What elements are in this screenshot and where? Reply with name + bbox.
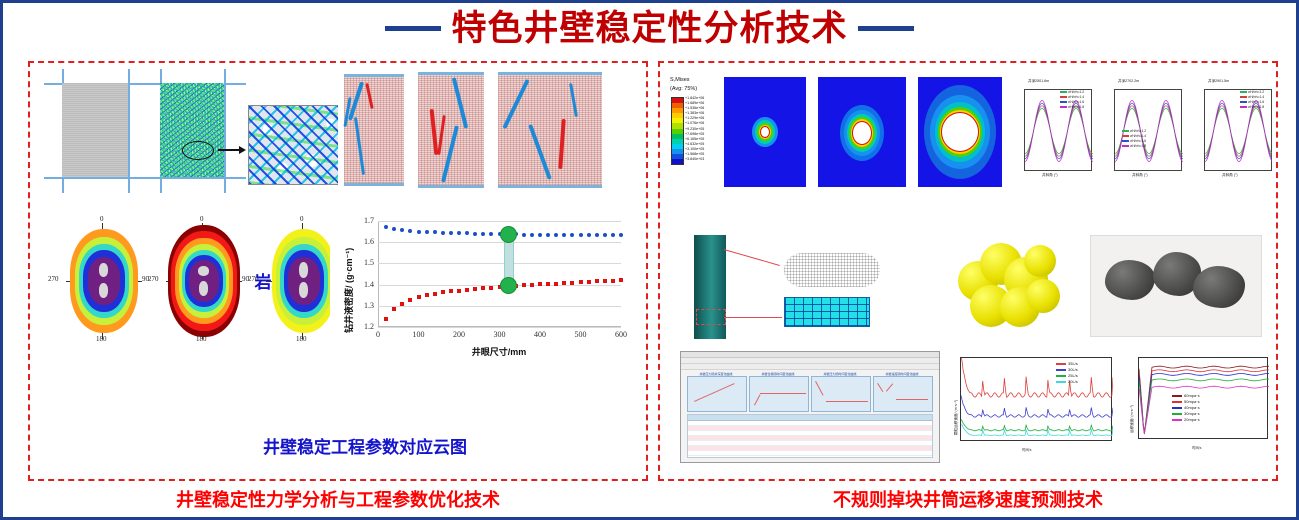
title-rule-left [385,26,441,31]
pipe-callout-line-bottom [724,317,782,318]
collapse-chart-3: 井深2901.5m σH/σh=1.2σH/σh=1.4σH/σh=1.6σH/… [1188,77,1272,187]
fracture-specimens-figure [342,63,642,199]
x-axis-tick: 200 [447,330,471,339]
pipe-detail-box [696,309,726,325]
data-point [417,295,421,299]
data-point [384,317,388,321]
x-axis-tick: 300 [488,330,512,339]
collapse-chart-legend: σH/σh=1.2σH/σh=1.4σH/σh=1.6σH/σh=1.8 [1240,90,1264,110]
cuttings-velocity-chart: 颗粒运移速度/ (m·s⁻¹) 35L/s30L/s25L/s20L/s 时间/… [946,349,1118,459]
highlight-marker-lower [500,277,517,294]
velocity-chart-xlabel: 时间/s [1022,447,1031,452]
left-sub-caption-2: 井壁稳定工程参数对应云图 [55,433,675,458]
data-point [579,280,583,284]
software-chart-4-title: 井壁速度随时间变化曲线 [873,372,931,376]
data-point [522,283,526,287]
data-point [425,293,429,297]
x-axis-tick: 500 [569,330,593,339]
polar-tick-180: 180 [296,335,307,343]
right-panel-caption: 不规则掉块井筒运移速度预测技术 [658,486,1278,512]
software-chart-2-title: 井壁位移随时间变化曲线 [749,372,807,376]
cuttings-particle-cluster [950,235,1070,335]
pipe-mesh-flat [784,297,870,327]
viscosity-chart-xlabel: 时间/s [1192,445,1201,450]
data-point [441,231,445,235]
software-chart-4 [873,376,933,412]
poster-root: 特色井壁稳定性分析技术 [0,0,1299,520]
software-chart-1-title: 井壁应力随井深变化曲线 [687,372,745,376]
gridline [378,221,621,222]
collapse-chart-1-xlabel: 井斜角 (°) [1042,173,1058,178]
wellbore-pipe-mesh-figure [680,231,940,341]
fracture-specimen-2 [418,75,484,185]
wellbore-contour-small [724,77,806,187]
data-point [603,279,607,283]
right-panel: S,Mises (Avg: 75%) +1.842e+06+1.689e+06+… [658,61,1278,481]
x-axis-tick: 600 [609,330,633,339]
polar-tick-0: 0 [200,215,204,223]
polar-plot-2: 0 90 180 270 [158,219,250,343]
data-point [473,232,477,236]
software-chart-2 [749,376,809,412]
data-point [522,233,526,237]
fea-legend-colorbar [671,97,684,165]
data-point [587,280,591,284]
fea-legend-values: +1.842e+06+1.689e+06+1.536e+06+1.383e+06… [685,96,704,162]
data-point [489,286,493,290]
polar-tick-0: 0 [300,215,304,223]
x-axis-tick: 0 [366,330,390,339]
data-point [417,230,421,234]
velocity-chart-ylabel: 颗粒运移速度/ (m·s⁻¹) [954,400,959,435]
collapse-pressure-charts: 井深2501.6m σH/σh=1.2σH/σh=1.4σH/σh=1.6σH/… [1008,71,1272,191]
core-specimen-dem [156,73,236,188]
zoom-arrow-line [218,149,240,151]
polar-tick-180: 180 [96,335,107,343]
pipe-mesh-3d [784,253,880,287]
data-point [530,233,534,237]
data-point [546,282,550,286]
polar-tick-180: 180 [196,335,207,343]
poster-title: 特色井壁稳定性分析技术 [451,11,847,46]
polar-tick-270: 270 [48,275,59,283]
gridline [378,327,621,328]
polar-tick-270: 270 [148,275,159,283]
wellbore-stress-figures [722,71,1002,191]
highlight-marker-upper [500,226,517,243]
collapse-chart-1-title: 井深2501.6m [1028,79,1049,84]
collapse-chart-1: 井深2501.6m σH/σh=1.2σH/σh=1.4σH/σh=1.6σH/… [1008,77,1094,187]
polar-plot-1: 0 90 180 270 [58,219,150,343]
data-point [425,230,429,234]
data-point [587,233,591,237]
data-point [449,289,453,293]
data-point [546,233,550,237]
polar-tick-0: 0 [100,215,104,223]
software-chart-1 [687,376,747,412]
analysis-software-window[interactable]: 井壁应力随井深变化曲线 井壁位移随时间变化曲线 井壁压力随时间变化曲线 井壁速度… [680,351,940,463]
viscosity-chart-legend: 60mpa·s50mpa·s40mpa·s30mpa·s20mpa·s [1172,393,1200,423]
software-data-table[interactable] [687,414,933,458]
y-axis-tick: 1.4 [354,280,374,289]
zoom-region-ellipse [182,141,214,160]
viscosity-chart-ylabel: 运移速度/ (m·s⁻¹) [1130,405,1135,433]
poster-title-bar: 特色井壁稳定性分析技术 [3,5,1296,51]
pipe-callout-line-top [724,249,780,266]
data-point [619,233,623,237]
data-point [433,292,437,296]
software-chart-3-title: 井壁压力随时间变化曲线 [811,372,869,376]
wellbore-contour-medium [818,77,906,187]
data-point [441,290,445,294]
fea-legend-avg: (Avg: 75%) [670,86,697,92]
zoom-arrow-head [239,146,246,154]
x-axis-tick: 400 [528,330,552,339]
gridline [378,263,621,264]
data-point [562,281,566,285]
data-point [384,225,388,229]
dem-contact-network [248,105,338,185]
collapse-chart-3-title: 井深2901.5m [1208,79,1229,84]
y-axis-tick: 1.3 [354,301,374,310]
data-point [481,286,485,290]
data-point [554,282,558,286]
data-point [530,283,534,287]
collapse-chart-2-title: 井深2702.2m [1118,79,1139,84]
data-point [392,307,396,311]
data-point [579,233,583,237]
polar-tick-270: 270 [248,275,259,283]
data-point [457,289,461,293]
data-point [408,298,412,302]
y-axis-tick: 1.5 [354,258,374,267]
title-rule-right [858,26,914,31]
data-point [619,278,623,282]
window-toolbar[interactable] [681,364,939,370]
data-point [400,302,404,306]
core-specimen-grey [56,73,136,188]
data-point [595,233,599,237]
data-point [473,287,477,291]
collapse-chart-2: 井深2702.2m σH/σh=1.2σH/σh=1.4σH/σh=1.6σH/… [1098,77,1184,187]
data-point [449,231,453,235]
fea-legend-title: S,Mises [670,77,690,83]
mud-density-chart: 钻井液密度/ (g·cm⁻¹) 井眼尺寸/mm 1.21.31.41.51.61… [330,211,640,366]
dem-core-figure [38,67,338,197]
fracture-specimen-1 [344,77,404,183]
polar-plot-3: 0 90 180 270 [258,219,330,343]
viscosity-velocity-chart: 运移速度/ (m·s⁻¹) 60mpa·s50mpa·s40mpa·s30mpa… [1124,349,1274,459]
wellbore-contour-large [918,77,1002,187]
left-panel-caption: 井壁稳定性力学分析与工程参数优化技术 [28,486,648,512]
collapse-chart-3-xlabel: 井斜角 (°) [1222,173,1238,178]
left-panel: 岩芯离散元结构力学分析技术 0 90 180 270 [28,61,648,481]
collapse-chart-2-xlabel: 井斜角 (°) [1132,173,1148,178]
fea-stress-legend: S,Mises (Avg: 75%) +1.842e+06+1.689e+06+… [668,77,728,187]
cuttings-photo [1090,235,1262,337]
velocity-chart-legend: 35L/s30L/s25L/s20L/s [1056,361,1078,385]
gridline [378,306,621,307]
fracture-specimen-3 [498,75,602,185]
data-point [570,281,574,285]
polar-contour-figure: 0 90 180 270 0 90 180 270 [30,213,330,363]
y-axis-tick: 1.7 [354,216,374,225]
collapse-chart-legend: σH/σh=1.2σH/σh=1.4σH/σh=1.6σH/σh=1.8 [1122,129,1146,149]
software-chart-3 [811,376,871,412]
mud-chart-xlabel: 井眼尺寸/mm [378,345,620,358]
collapse-chart-legend: σH/σh=1.2σH/σh=1.4σH/σh=1.6σH/σh=1.8 [1060,90,1084,110]
y-axis-tick: 1.6 [354,237,374,246]
gridline [378,242,621,243]
data-point [611,279,615,283]
data-point [538,282,542,286]
data-point [538,233,542,237]
data-point [595,279,599,283]
data-point [465,288,469,292]
x-axis-tick: 100 [407,330,431,339]
